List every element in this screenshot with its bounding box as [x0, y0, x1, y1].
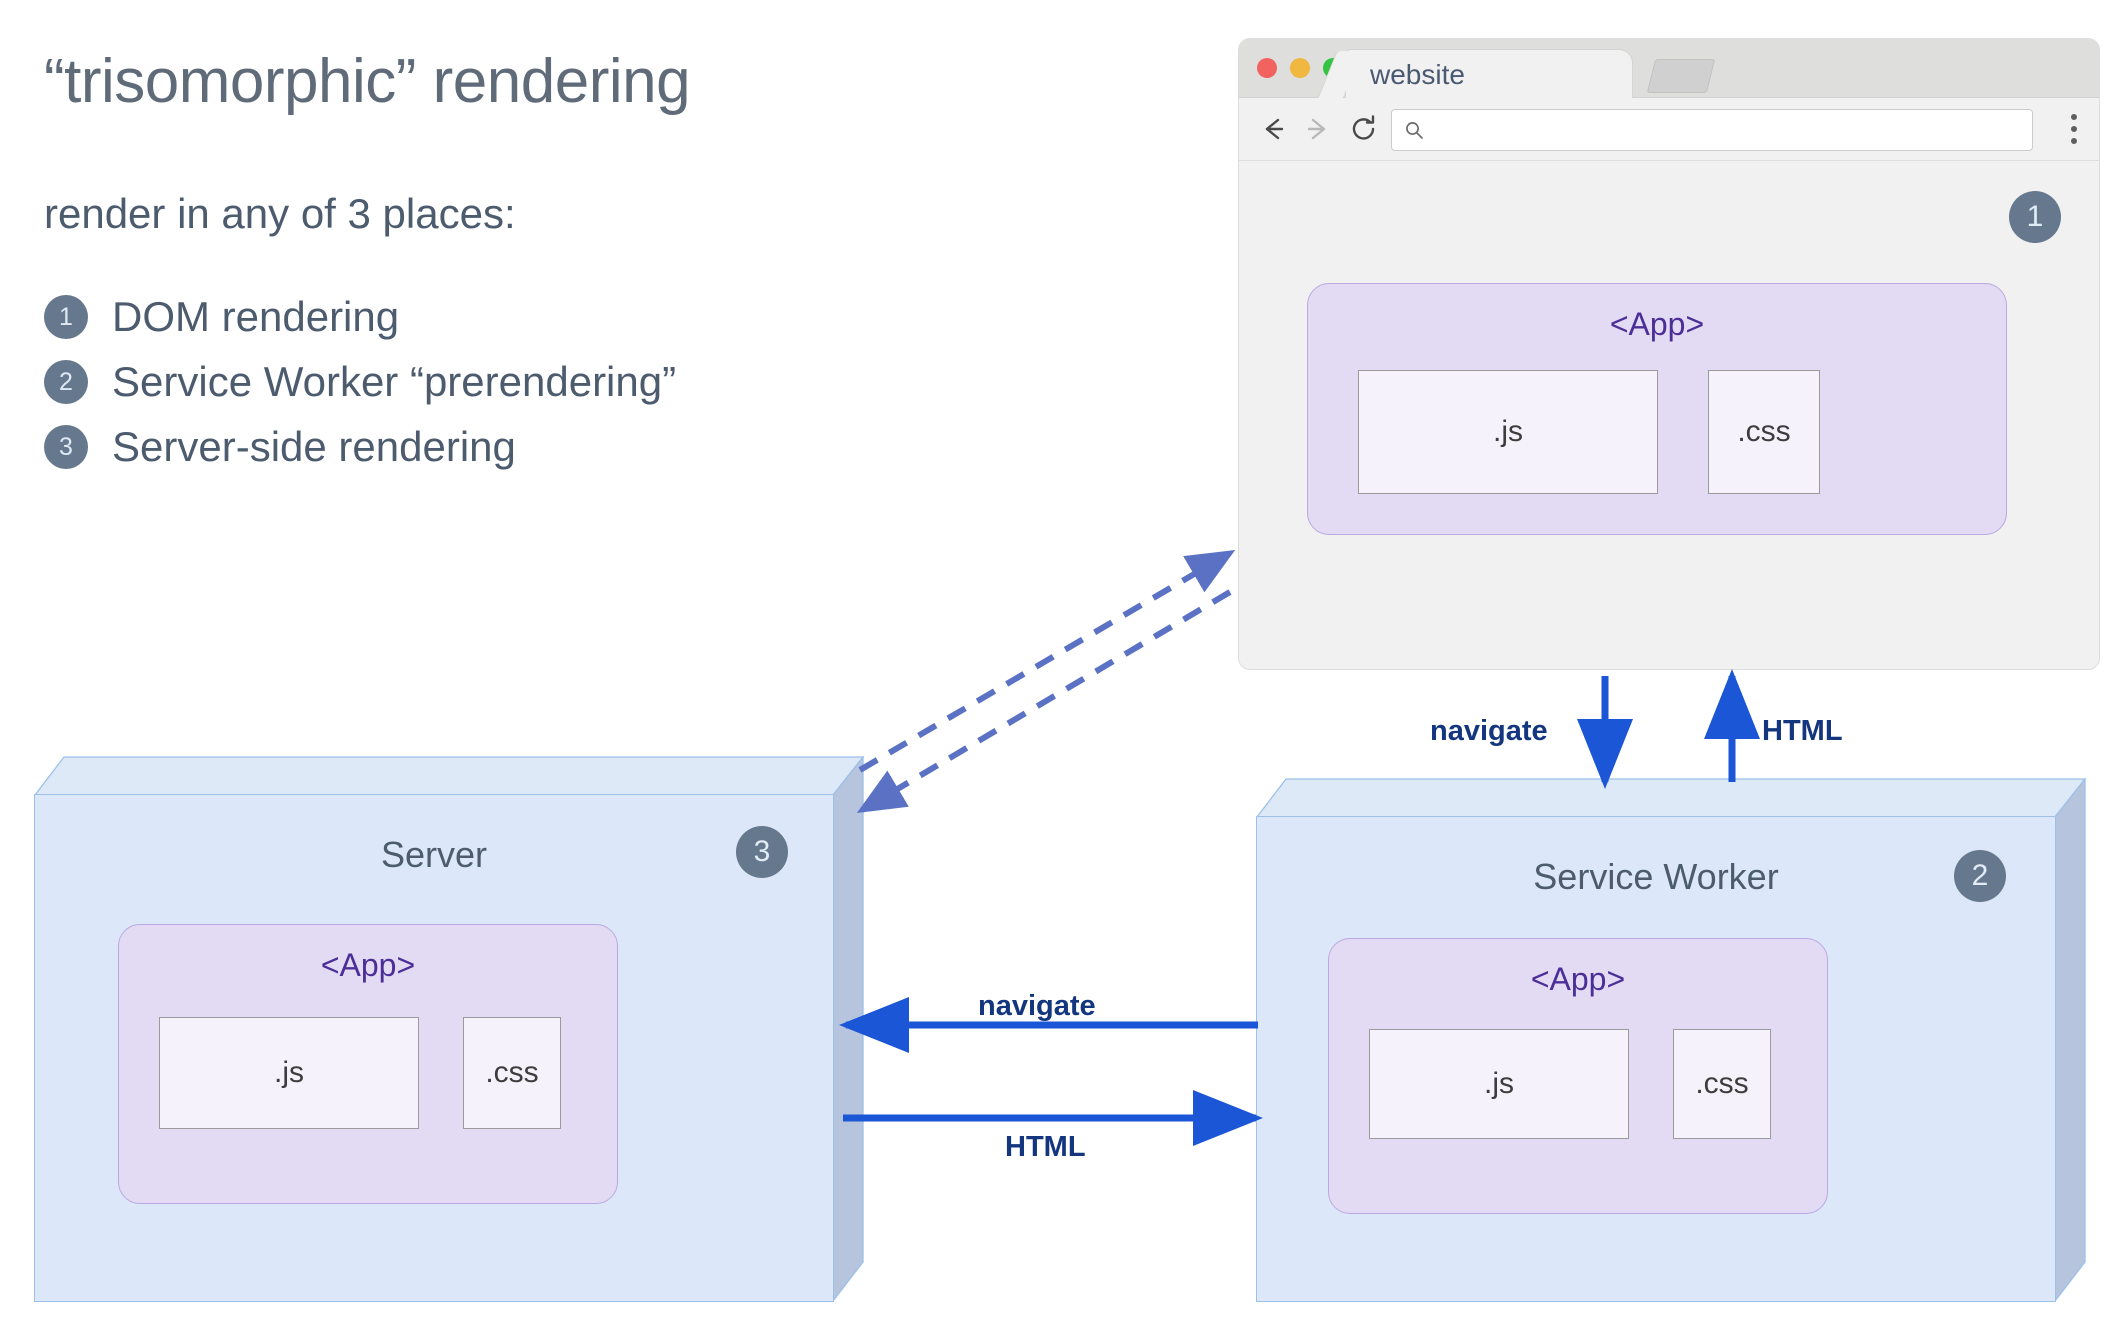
- file-label: .js: [1370, 1067, 1628, 1101]
- minimize-window-button[interactable]: [1290, 58, 1310, 78]
- app-label: <App>: [119, 947, 617, 984]
- back-arrow-icon[interactable]: [1256, 112, 1290, 146]
- service-worker-box-top-face: [1256, 778, 2086, 818]
- list-number-badge: 2: [44, 360, 88, 404]
- close-window-button[interactable]: [1257, 58, 1277, 78]
- file-css-server: .css: [463, 1017, 561, 1129]
- arrow-dashed-browser-to-server: [862, 592, 1230, 810]
- list-item-label: Service Worker “prerendering”: [112, 358, 676, 406]
- browser-window: website: [1238, 38, 2100, 670]
- server-title: Server: [34, 834, 834, 876]
- file-js-service-worker: .js: [1369, 1029, 1629, 1139]
- file-label: .css: [1674, 1067, 1770, 1101]
- file-js-server: .js: [159, 1017, 419, 1129]
- arrow-label-html-sw-browser: HTML: [1762, 715, 1843, 748]
- server-box-top-face: [34, 756, 864, 796]
- app-container-browser: <App> .js .css: [1307, 283, 2007, 535]
- page-subtitle: render in any of 3 places:: [44, 116, 1124, 238]
- arrow-dashed-server-to-browser: [860, 553, 1230, 770]
- headline-panel: “trisomorphic” rendering render in any o…: [44, 48, 1124, 481]
- service-worker-badge: 2: [1954, 850, 2006, 902]
- new-tab-button[interactable]: [1647, 59, 1715, 93]
- address-bar[interactable]: [1391, 109, 2033, 151]
- render-places-list: 1 DOM rendering 2 Service Worker “preren…: [44, 238, 1124, 478]
- kebab-menu-icon[interactable]: [2071, 114, 2077, 144]
- server-box: Server 3 <App> .js .css: [34, 756, 864, 1302]
- arrow-label-html-server-sw: HTML: [1005, 1131, 1086, 1164]
- list-item-label: Server-side rendering: [112, 423, 516, 471]
- list-item: 2 Service Worker “prerendering”: [44, 351, 1124, 413]
- status-badge: 1: [2009, 191, 2061, 243]
- file-label: .js: [160, 1056, 418, 1090]
- list-number-badge: 1: [44, 295, 88, 339]
- app-label: <App>: [1329, 961, 1827, 998]
- list-number-badge: 3: [44, 425, 88, 469]
- browser-tab-bar: website: [1239, 39, 2099, 98]
- arrow-label-navigate-sw-server: navigate: [978, 990, 1096, 1023]
- browser-viewport: 1 <App> .js .css: [1239, 161, 2099, 670]
- list-item: 3 Server-side rendering: [44, 416, 1124, 478]
- browser-toolbar: [1239, 98, 2099, 161]
- search-icon: [1404, 120, 1424, 140]
- browser-tab-label: website: [1370, 59, 1465, 91]
- list-item-label: DOM rendering: [112, 293, 399, 341]
- page-title: “trisomorphic” rendering: [44, 48, 1124, 116]
- service-worker-title: Service Worker: [1256, 856, 2056, 898]
- list-item: 1 DOM rendering: [44, 286, 1124, 348]
- file-label: .js: [1359, 415, 1657, 449]
- file-css-service-worker: .css: [1673, 1029, 1771, 1139]
- browser-tab-website[interactable]: website: [1345, 49, 1633, 98]
- file-label: .css: [1709, 415, 1819, 449]
- app-container-service-worker: <App> .js .css: [1328, 938, 1828, 1214]
- server-badge: 3: [736, 826, 788, 878]
- file-label: .css: [464, 1056, 560, 1090]
- service-worker-box: Service Worker 2 <App> .js .css: [1256, 778, 2086, 1302]
- arrow-label-navigate-browser-sw: navigate: [1430, 715, 1548, 748]
- app-label: <App>: [1308, 306, 2006, 343]
- app-container-server: <App> .js .css: [118, 924, 618, 1204]
- file-css-browser: .css: [1708, 370, 1820, 494]
- reload-icon[interactable]: [1347, 112, 1381, 146]
- file-js-browser: .js: [1358, 370, 1658, 494]
- address-bar-input[interactable]: [1434, 110, 2018, 152]
- forward-arrow-icon[interactable]: [1301, 112, 1335, 146]
